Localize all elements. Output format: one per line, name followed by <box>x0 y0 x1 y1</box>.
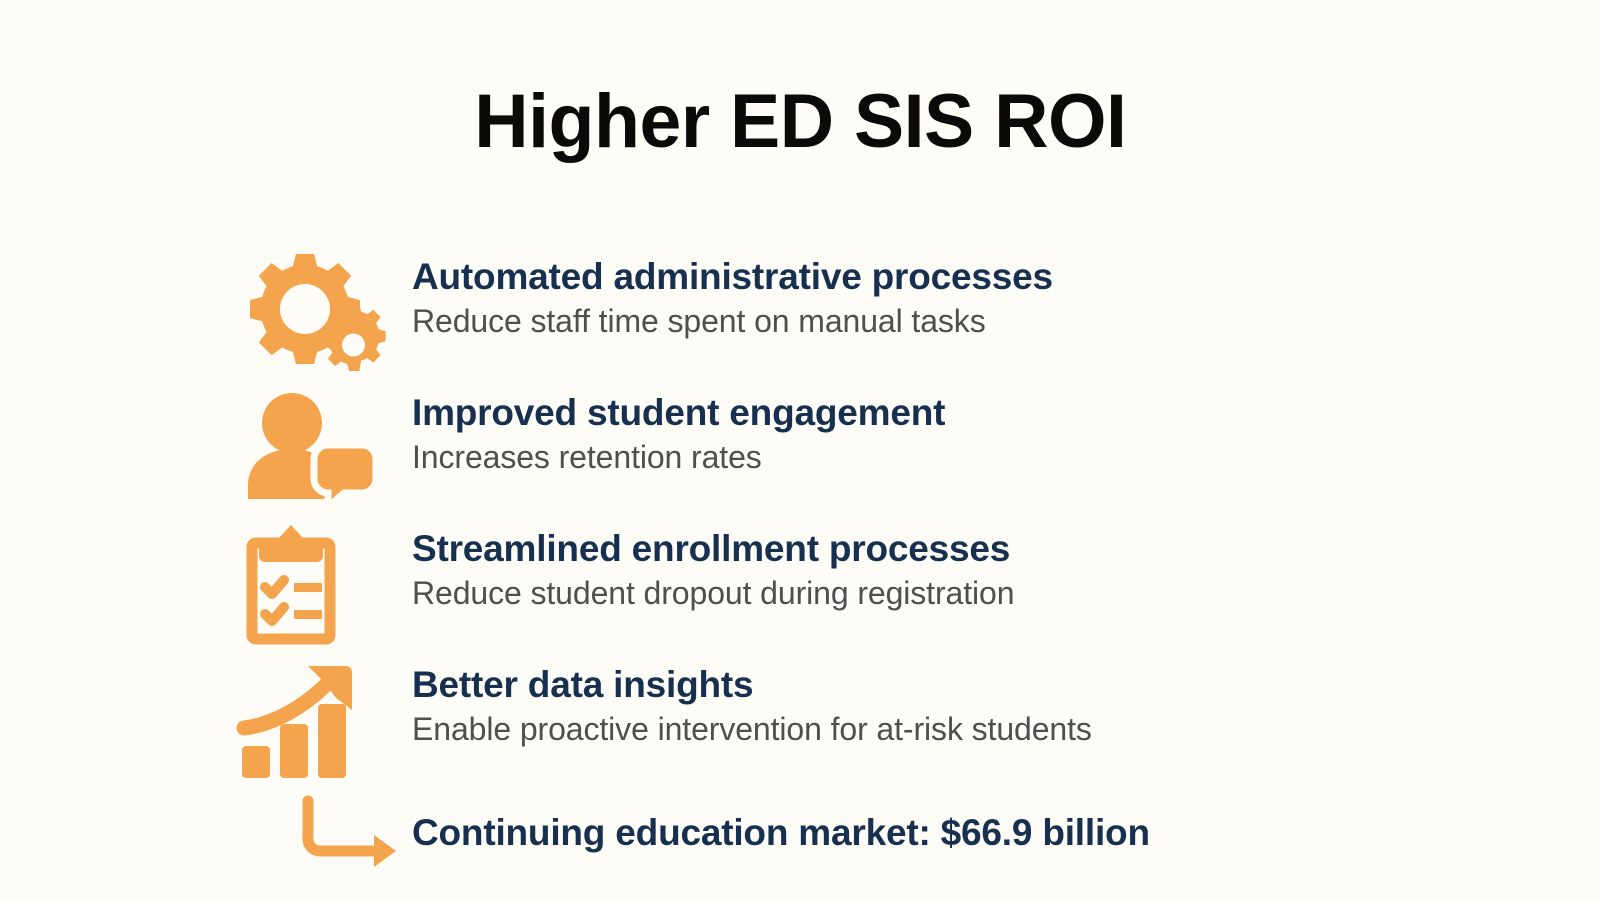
infographic-poster: Higher ED SIS ROI Automated admi <box>0 0 1600 900</box>
benefit-row-streamlined-enrollment-processes: Streamlined enrollment processes Reduce … <box>230 518 1560 654</box>
elbow-arrow-right-icon <box>230 789 412 875</box>
gears-icon <box>230 246 412 378</box>
benefits-list: Automated administrative processes Reduc… <box>230 246 1560 878</box>
benefit-text-block: Better data insights Enable proactive in… <box>412 654 1560 748</box>
title-container: Higher ED SIS ROI <box>0 84 1600 160</box>
benefit-subtext: Increases retention rates <box>412 439 1560 476</box>
growth-chart-icon <box>230 654 412 786</box>
page-title: Higher ED SIS ROI <box>474 84 1126 160</box>
benefit-subtext: Enable proactive intervention for at-ris… <box>412 711 1560 748</box>
benefit-row-automated-administrative-processes: Automated administrative processes Reduc… <box>230 246 1560 382</box>
clipboard-checklist-icon <box>230 518 412 650</box>
benefit-text-block: Improved student engagement Increases re… <box>412 382 1560 476</box>
benefit-subtext: Reduce student dropout during registrati… <box>412 575 1560 612</box>
benefit-heading: Streamlined enrollment processes <box>412 528 1560 569</box>
user-speech-bubble-icon <box>230 382 412 514</box>
market-stat-row: Continuing education market: $66.9 billi… <box>230 786 1560 878</box>
market-stat-text: Continuing education market: $66.9 billi… <box>412 811 1150 854</box>
benefit-text-block: Streamlined enrollment processes Reduce … <box>412 518 1560 612</box>
benefit-heading: Improved student engagement <box>412 392 1560 433</box>
benefit-heading: Better data insights <box>412 664 1560 705</box>
benefit-text-block: Automated administrative processes Reduc… <box>412 246 1560 340</box>
benefit-subtext: Reduce staff time spent on manual tasks <box>412 303 1560 340</box>
benefit-row-better-data-insights: Better data insights Enable proactive in… <box>230 654 1560 790</box>
benefit-row-improved-student-engagement: Improved student engagement Increases re… <box>230 382 1560 518</box>
benefit-heading: Automated administrative processes <box>412 256 1560 297</box>
